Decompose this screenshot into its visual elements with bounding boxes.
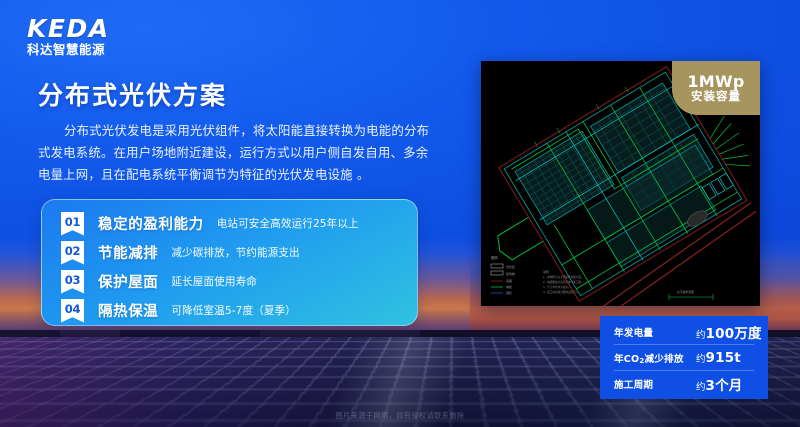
cad-scale-bar: 总平面布置图: [669, 290, 713, 300]
badge-number: 02: [61, 241, 84, 265]
stat-value: 约915t: [696, 350, 741, 366]
stat-label: 施工周期: [614, 377, 696, 391]
svg-text:建筑物: 建筑物: [506, 271, 515, 276]
cad-legend: 图例 光伏区 建筑物 道路 电缆 围栏: [491, 255, 515, 295]
cad-site-plan: 图例 光伏区 建筑物 道路 电缆 围栏 说明： 1、本图所示为光伏组件布置平面。…: [481, 61, 760, 306]
stat-number: 100万度: [706, 326, 762, 342]
stat-prefix: 约: [696, 382, 706, 393]
stat-value: 约3个月: [696, 374, 743, 394]
number-badge-icon: 04: [61, 299, 84, 323]
feature-description: 减少碳排放，节约能源支出: [171, 245, 299, 260]
feature-panel: 01 稳定的盈利能力 电站可安全高效运行25年以上 02 节能减排 减少碳排放，…: [41, 199, 418, 326]
stat-label: 年发电量: [614, 325, 696, 339]
stat-value: 约100万度: [696, 322, 762, 342]
badge-number: 01: [61, 212, 84, 236]
badge-number: 04: [61, 299, 84, 323]
feature-title: 保护屋面: [98, 271, 158, 292]
svg-text:围栏: 围栏: [506, 290, 512, 295]
capacity-badge: 1MWp 安装容量: [672, 61, 760, 115]
stat-row-annual-generation: 年发电量 约100万度: [614, 319, 754, 345]
stat-label-post: 减少排放: [644, 354, 683, 365]
stat-prefix: 约: [696, 330, 706, 341]
svg-text:说明：: 说明：: [543, 270, 551, 274]
capacity-value: 1MWp: [687, 74, 744, 90]
stat-label-subscript: 2: [639, 357, 644, 365]
slide-canvas: KEDA 科达智慧能源 分布式光伏方案 分布式光伏发电是采用光伏组件，将太阳能直…: [0, 0, 800, 427]
watermark-text: 图片来源于网络，如有侵权请联系删除: [0, 411, 800, 421]
page-title: 分布式光伏方案: [38, 76, 227, 112]
svg-text:道路: 道路: [506, 278, 512, 283]
svg-text:3、尺寸单位均为毫米。: 3、尺寸单位均为毫米。: [543, 285, 571, 289]
feature-title: 节能减排: [98, 242, 158, 263]
feature-row-02: 02 节能减排 减少碳排放，节约能源支出: [42, 238, 417, 267]
number-badge-icon: 01: [61, 212, 84, 236]
feature-row-01: 01 稳定的盈利能力 电站可安全高效运行25年以上: [42, 209, 417, 238]
stat-number: 3个月: [706, 378, 743, 394]
svg-text:4、施工前应核对现场实际尺寸。: 4、施工前应核对现场实际尺寸。: [543, 290, 581, 294]
feature-row-03: 03 保护屋面 延长屋面使用寿命: [42, 267, 417, 296]
stat-label-pre: 年CO: [614, 354, 639, 365]
feature-title: 隔热保温: [98, 300, 158, 321]
number-badge-icon: 02: [61, 241, 84, 265]
svg-text:图例: 图例: [491, 255, 498, 260]
brand-logo-name: 科达智慧能源: [27, 44, 147, 57]
feature-description: 电站可安全高效运行25年以上: [217, 216, 359, 231]
svg-text:1、本图所示为光伏组件布置平面。: 1、本图所示为光伏组件布置平面。: [543, 275, 584, 279]
stats-panel: 年发电量 约100万度 年CO2减少排放 约915t 施工周期 约3个月: [600, 316, 768, 399]
svg-text:总平面布置图: 总平面布置图: [677, 290, 694, 294]
svg-text:电缆: 电缆: [506, 284, 512, 289]
feature-row-04: 04 隔热保温 可降低室温5-7度（夏季）: [42, 296, 417, 325]
svg-text:光伏区: 光伏区: [506, 264, 515, 269]
stat-prefix: 约: [696, 354, 706, 365]
brand-logo: KEDA 科达智慧能源: [27, 16, 147, 57]
svg-text:2、电缆敷设方式详见电气施工图。: 2、电缆敷设方式详见电气施工图。: [543, 280, 584, 284]
cad-notes: 说明： 1、本图所示为光伏组件布置平面。 2、电缆敷设方式详见电气施工图。 3、…: [543, 270, 584, 294]
feature-description: 可降低室温5-7度（夏季）: [171, 303, 296, 318]
feature-description: 延长屋面使用寿命: [171, 274, 257, 289]
brand-logo-mark: KEDA: [27, 16, 147, 41]
stat-label: 年CO2减少排放: [614, 351, 696, 365]
number-badge-icon: 03: [61, 270, 84, 294]
feature-title: 稳定的盈利能力: [98, 213, 204, 234]
stat-number: 915t: [706, 350, 741, 366]
badge-number: 03: [61, 270, 84, 294]
stat-row-construction-period: 施工周期 约3个月: [614, 371, 754, 397]
stat-row-co2-reduction: 年CO2减少排放 约915t: [614, 345, 754, 371]
capacity-label: 安装容量: [691, 91, 741, 103]
intro-paragraph: 分布式光伏发电是采用光伏组件，将太阳能直接转换为电能的分布式发电系统。在用户场地…: [38, 120, 438, 186]
